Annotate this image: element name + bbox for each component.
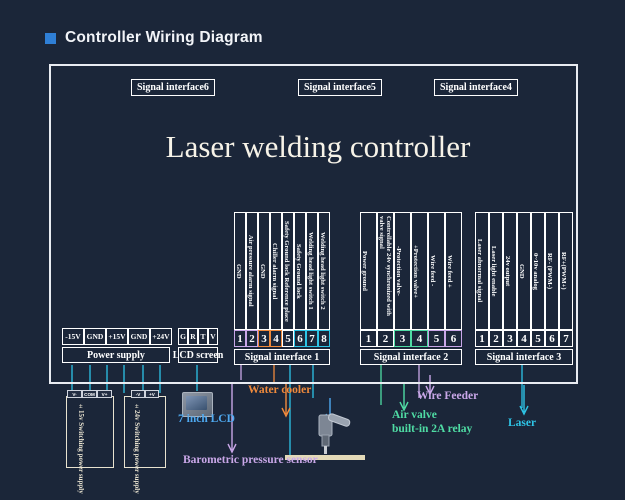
si3-pin-7[interactable]: 7 (559, 330, 573, 347)
page-title: Controller Wiring Diagram (65, 29, 263, 47)
si2-pin-2[interactable]: 2 (377, 330, 394, 347)
callout-barometric-sensor: Barometric pressure sensor (183, 453, 318, 467)
si3-label-3: 24v output (503, 212, 517, 330)
si1-pin-3[interactable]: 3 (258, 330, 270, 347)
callout-lcd: 7 inch LCD (178, 412, 235, 426)
si1-label-stack: GNDAir pressure alarm signalGNDChiller a… (234, 212, 330, 330)
si2-pin-row: 123456 (360, 330, 462, 347)
wiring-diagram-canvas: Controller Wiring Diagram (0, 0, 625, 500)
psu-unit-24v (124, 396, 166, 468)
lcd-terminal-R[interactable]: R (188, 328, 198, 345)
power-terminal-GND[interactable]: GND (84, 328, 106, 345)
si1-pin-6[interactable]: 6 (294, 330, 306, 347)
si1-label-7: Welding head light switch 1 (306, 212, 318, 330)
si3-caption: Signal interface 3 (475, 349, 573, 365)
si2-label-4: +Protection valve+ (411, 212, 428, 330)
si3-pin-1[interactable]: 1 (475, 330, 489, 347)
power-terminal-24V[interactable]: +24V (150, 328, 172, 345)
si1-label-6: Safety Ground lock (294, 212, 306, 330)
psu-unit-24v-terminals: -V+V (131, 390, 159, 398)
signal-interface-6-label: Signal interface6 (131, 79, 215, 96)
si3-label-1: Laser abnormal signal (475, 212, 489, 330)
si2-label-1: Power ground (360, 212, 377, 330)
si1-label-8: Welding head light switch 2 (318, 212, 330, 330)
si1-label-1: GND (234, 212, 246, 330)
psu-unit-15v-terminals: V-COMV+ (67, 390, 112, 398)
lcd-device-screen (186, 396, 207, 410)
si2-label-6: Wire feed + (445, 212, 462, 330)
si2-caption: Signal interface 2 (360, 349, 462, 365)
si3-pin-5[interactable]: 5 (531, 330, 545, 347)
signal-interface-5-label: Signal interface5 (298, 79, 382, 96)
si1-pin-row: 12345678 (234, 330, 330, 347)
si2-label-2: Controllable 24v synchronized with valve… (377, 212, 394, 330)
si3-label-4: GND (517, 212, 531, 330)
power-terminal-GND[interactable]: GND (128, 328, 150, 345)
signal-interface-4-label: Signal interface4 (434, 79, 518, 96)
power-terminal-15V[interactable]: +15V (106, 328, 128, 345)
si2-label-5: Wire feed - (428, 212, 445, 330)
controller-title: Laser welding controller (118, 129, 518, 165)
page-header: Controller Wiring Diagram (45, 29, 263, 47)
lcd-screen-caption: LCD screen (178, 347, 218, 363)
psu-24v-terminal-0[interactable]: -V (131, 390, 145, 398)
psu-15v-terminal-2[interactable]: V+ (97, 390, 112, 398)
si1-caption: Signal interface 1 (234, 349, 330, 365)
psu-unit-15v-label: ±15v Switching power supply (76, 402, 85, 464)
si3-label-stack: Laser abnormal signalLaser light enable2… (475, 212, 573, 330)
lcd-terminal-G[interactable]: G (178, 328, 188, 345)
si1-pin-1[interactable]: 1 (234, 330, 246, 347)
lcd-screen-terminals: GRTV (178, 328, 218, 345)
si1-pin-2[interactable]: 2 (246, 330, 258, 347)
header-bullet-icon (45, 33, 56, 44)
callout-wire-feeder: Wire Feeder (417, 389, 478, 403)
si3-pin-6[interactable]: 6 (545, 330, 559, 347)
si1-label-4: Chiller alarm signal (270, 212, 282, 330)
si3-pin-3[interactable]: 3 (503, 330, 517, 347)
si2-pin-1[interactable]: 1 (360, 330, 377, 347)
si1-pin-8[interactable]: 8 (318, 330, 330, 347)
si3-label-7: RF+(PWM+) (559, 212, 573, 330)
si2-label-stack: Power groundControllable 24v synchronize… (360, 212, 462, 330)
si1-label-5: Safety Ground lock Reference place (282, 212, 294, 330)
psu-unit-24v-label: ±24v Switching power supply (132, 402, 141, 464)
si1-label-3: GND (258, 212, 270, 330)
si3-label-2: Laser light enable (489, 212, 503, 330)
power-terminal-15V[interactable]: -15V (62, 328, 84, 345)
si3-pin-4[interactable]: 4 (517, 330, 531, 347)
callout-laser: Laser (508, 416, 536, 430)
si1-pin-5[interactable]: 5 (282, 330, 294, 347)
callout-water-cooler: Water cooler (248, 383, 311, 397)
si1-label-2: Air pressure alarm signal (246, 212, 258, 330)
psu-15v-terminal-0[interactable]: V- (67, 390, 82, 398)
lcd-terminal-T[interactable]: T (198, 328, 208, 345)
power-supply-terminals: -15VGND+15VGND+24V (62, 328, 172, 345)
si1-pin-7[interactable]: 7 (306, 330, 318, 347)
si2-label-3: -Protection valve- (394, 212, 411, 330)
si1-pin-4[interactable]: 4 (270, 330, 282, 347)
si3-label-5: 0~10v analog (531, 212, 545, 330)
si2-pin-5[interactable]: 5 (428, 330, 445, 347)
psu-unit-15v (66, 396, 114, 468)
si2-pin-4[interactable]: 4 (411, 330, 428, 347)
si2-pin-6[interactable]: 6 (445, 330, 462, 347)
psu-24v-terminal-1[interactable]: +V (145, 390, 159, 398)
si3-pin-row: 1234567 (475, 330, 573, 347)
lcd-terminal-V[interactable]: V (208, 328, 218, 345)
si2-pin-3[interactable]: 3 (394, 330, 411, 347)
si3-pin-2[interactable]: 2 (489, 330, 503, 347)
welding-head-icon (310, 405, 356, 457)
callout-air-valve: Air valve built-in 2A relay (392, 408, 472, 436)
power-supply-caption: Power supply (62, 347, 170, 363)
si3-label-6: RF- (PWM-) (545, 212, 559, 330)
psu-15v-terminal-1[interactable]: COM (82, 390, 97, 398)
